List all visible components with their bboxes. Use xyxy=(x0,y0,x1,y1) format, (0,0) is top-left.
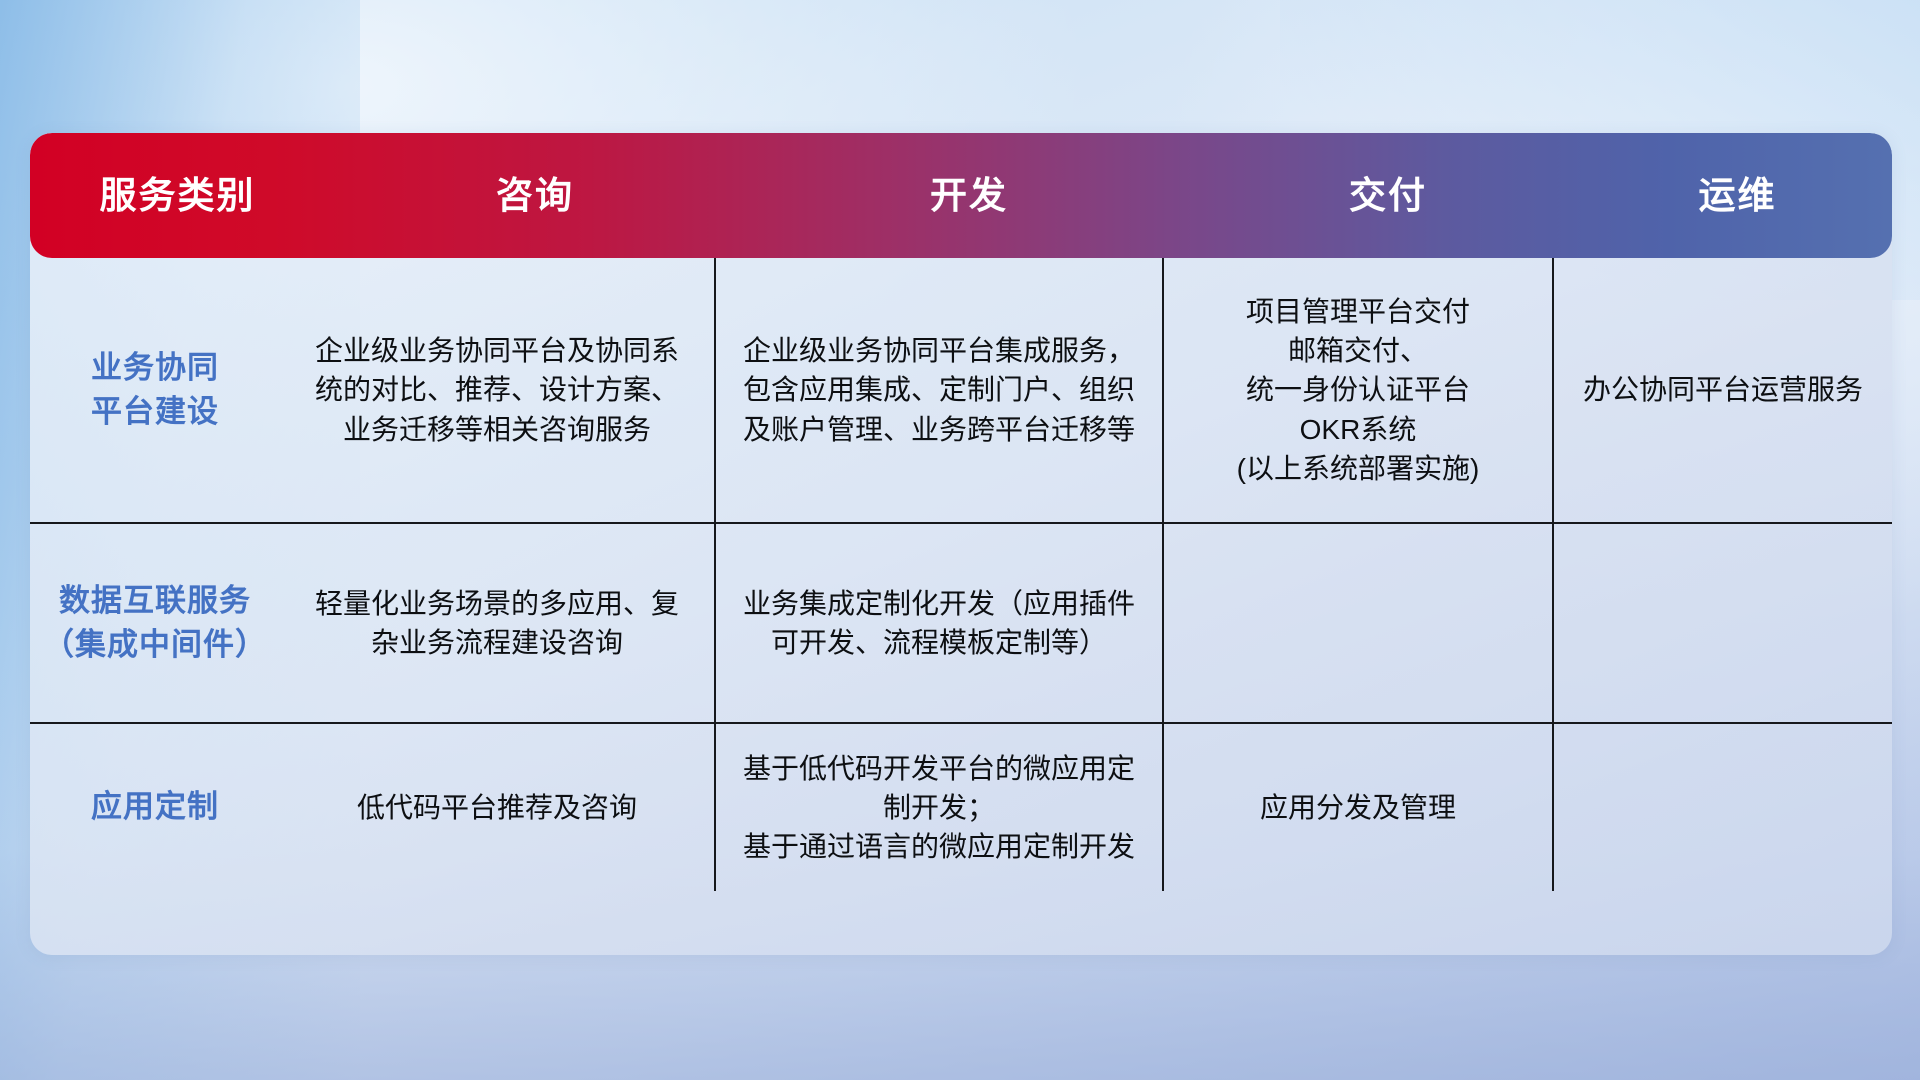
row-2-category: 数据互联服务 （集成中间件） xyxy=(30,524,280,722)
row-2-delivery xyxy=(1164,524,1552,722)
service-matrix-table: 服务类别 咨询 开发 交付 运维 业务协同 平台建设 企业级业务协同平台及协同系… xyxy=(30,133,1892,955)
row-3-delivery: 应用分发及管理 xyxy=(1164,724,1552,891)
row-2-consulting: 轻量化业务场景的多应用、复 杂业务流程建设咨询 xyxy=(280,524,714,722)
row-1-consulting: 企业级业务协同平台及协同系 统的对比、推荐、设计方案、 业务迁移等相关咨询服务 xyxy=(280,258,714,522)
column-header-consulting: 咨询 xyxy=(325,177,745,214)
column-header-delivery: 交付 xyxy=(1193,177,1583,214)
row-1-category: 业务协同 平台建设 xyxy=(30,258,280,522)
row-3-consulting: 低代码平台推荐及咨询 xyxy=(280,724,714,891)
column-header-operations: 运维 xyxy=(1583,177,1892,214)
row-1-delivery: 项目管理平台交付 邮箱交付、 统一身份认证平台 OKR系统 (以上系统部署实施) xyxy=(1164,258,1552,522)
column-header-category: 服务类别 xyxy=(30,177,325,214)
row-3-operations xyxy=(1554,724,1892,891)
row-1-operations: 办公协同平台运营服务 xyxy=(1554,258,1892,522)
row-3-development: 基于低代码开发平台的微应用定 制开发； 基于通过语言的微应用定制开发 xyxy=(716,724,1162,891)
row-1-development: 企业级业务协同平台集成服务， 包含应用集成、定制门户、组织 及账户管理、业务跨平… xyxy=(716,258,1162,522)
column-header-development: 开发 xyxy=(745,177,1193,214)
table-header-row: 服务类别 咨询 开发 交付 运维 xyxy=(30,133,1892,258)
row-2-development: 业务集成定制化开发（应用插件 可开发、流程模板定制等） xyxy=(716,524,1162,722)
row-3-category: 应用定制 xyxy=(30,724,280,891)
row-2-operations xyxy=(1554,524,1892,722)
